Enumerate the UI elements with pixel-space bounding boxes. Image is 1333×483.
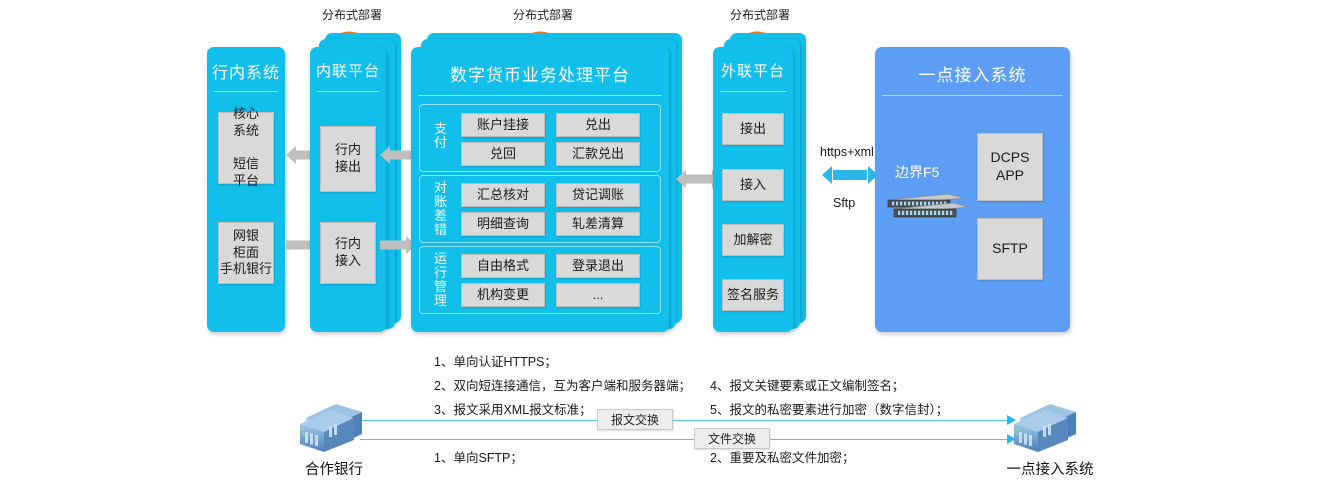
chip-sftp[interactable]: SFTP (977, 218, 1043, 280)
server-icon-partner-bank (296, 400, 372, 452)
divider (214, 91, 278, 92)
divider (317, 91, 379, 92)
message-exchange-label: 报文交换 (597, 409, 673, 430)
chip-credit-adjust[interactable]: 贷记调账 (556, 183, 640, 207)
note-left-1: 1、单向认证HTTPS； (434, 351, 557, 370)
chip-dcps-app[interactable]: DCPS APP (977, 133, 1043, 201)
note-left-2: 2、双向短连接通信，互为客户端和服务器端； (434, 375, 691, 394)
chip-more[interactable]: ... (556, 283, 640, 307)
chip-intra-outbound[interactable]: 行内 接出 (320, 126, 376, 192)
chip-netting-settlement[interactable]: 轧差清算 (556, 212, 640, 236)
panel-external-platform-title: 外联平台 (713, 60, 793, 81)
chip-exchange-out[interactable]: 兑出 (556, 113, 640, 137)
panel-intranet-platform-title: 内联平台 (310, 60, 386, 81)
file-exchange-label: 文件交换 (694, 428, 770, 449)
chip-summary-check[interactable]: 汇总核对 (461, 183, 545, 207)
chip-ext-inbound[interactable]: 接入 (722, 169, 784, 201)
arrow-external-access-bidirectional (822, 165, 878, 185)
chip-intra-inbound[interactable]: 行内 接入 (320, 222, 376, 284)
partner-bank-label: 合作银行 (286, 458, 382, 479)
chip-remittance-out[interactable]: 汇款兑出 (556, 142, 640, 166)
group-reconciliation-label: 对账差错 (433, 181, 448, 237)
chip-org-change[interactable]: 机构变更 (461, 283, 545, 307)
note-right-5: 5、报文的私密要素进行加密（数字信封）； (710, 399, 948, 418)
distributed-deploy-label-3: 分布式部署 (722, 6, 798, 23)
connection-label-https-xml: https+xml (820, 145, 874, 159)
distributed-deploy-label-2: 分布式部署 (505, 6, 581, 23)
f5-boundary-label: 边界F5 (895, 162, 939, 182)
chip-login-logout[interactable]: 登录退出 (556, 254, 640, 278)
group-payment-label: 支付 (433, 122, 448, 150)
divider (418, 95, 662, 96)
note-sftp-right: 2、重要及私密文件加密； (710, 447, 854, 466)
distributed-deploy-label-1: 分布式部署 (314, 6, 390, 23)
connection-label-sftp: Sftp (833, 196, 855, 210)
chip-ext-outbound[interactable]: 接出 (722, 113, 784, 145)
divider (882, 95, 1063, 96)
panel-core-platform-title: 数字货币业务处理平台 (411, 61, 669, 86)
network-device-icon (884, 190, 968, 224)
panel-access-system-title: 一点接入系统 (875, 61, 1070, 86)
note-right-4: 4、报文关键要素或正文编制签名； (710, 375, 904, 394)
chip-ebank-counter-mobile[interactable]: 网银 柜面 手机银行 (218, 222, 274, 284)
message-exchange-line (360, 420, 1008, 421)
note-sftp-left: 1、单向SFTP； (434, 447, 523, 466)
server-icon-access-system (1010, 400, 1086, 452)
chip-detail-query[interactable]: 明细查询 (461, 212, 545, 236)
chip-signature-service[interactable]: 签名服务 (722, 279, 784, 311)
panel-intra-system-title: 行内系统 (207, 59, 285, 83)
diagram-canvas: 分布式部署 分布式部署 分布式部署 行内系统 核心 系统 短信 平台 网银 柜面… (0, 0, 1333, 483)
note-left-3: 3、报文采用XML报文标准； (434, 399, 592, 418)
chip-core-system[interactable]: 核心 系统 短信 平台 (218, 112, 274, 184)
chip-encrypt-decrypt[interactable]: 加解密 (722, 224, 784, 256)
chip-free-format[interactable]: 自由格式 (461, 254, 545, 278)
chip-exchange-back[interactable]: 兑回 (461, 142, 545, 166)
group-operation-management-label: 运行管理 (433, 252, 448, 308)
access-system-bottom-label: 一点接入系统 (994, 458, 1106, 479)
chip-account-link[interactable]: 账户挂接 (461, 113, 545, 137)
divider (720, 91, 786, 92)
file-exchange-line (360, 439, 1008, 440)
